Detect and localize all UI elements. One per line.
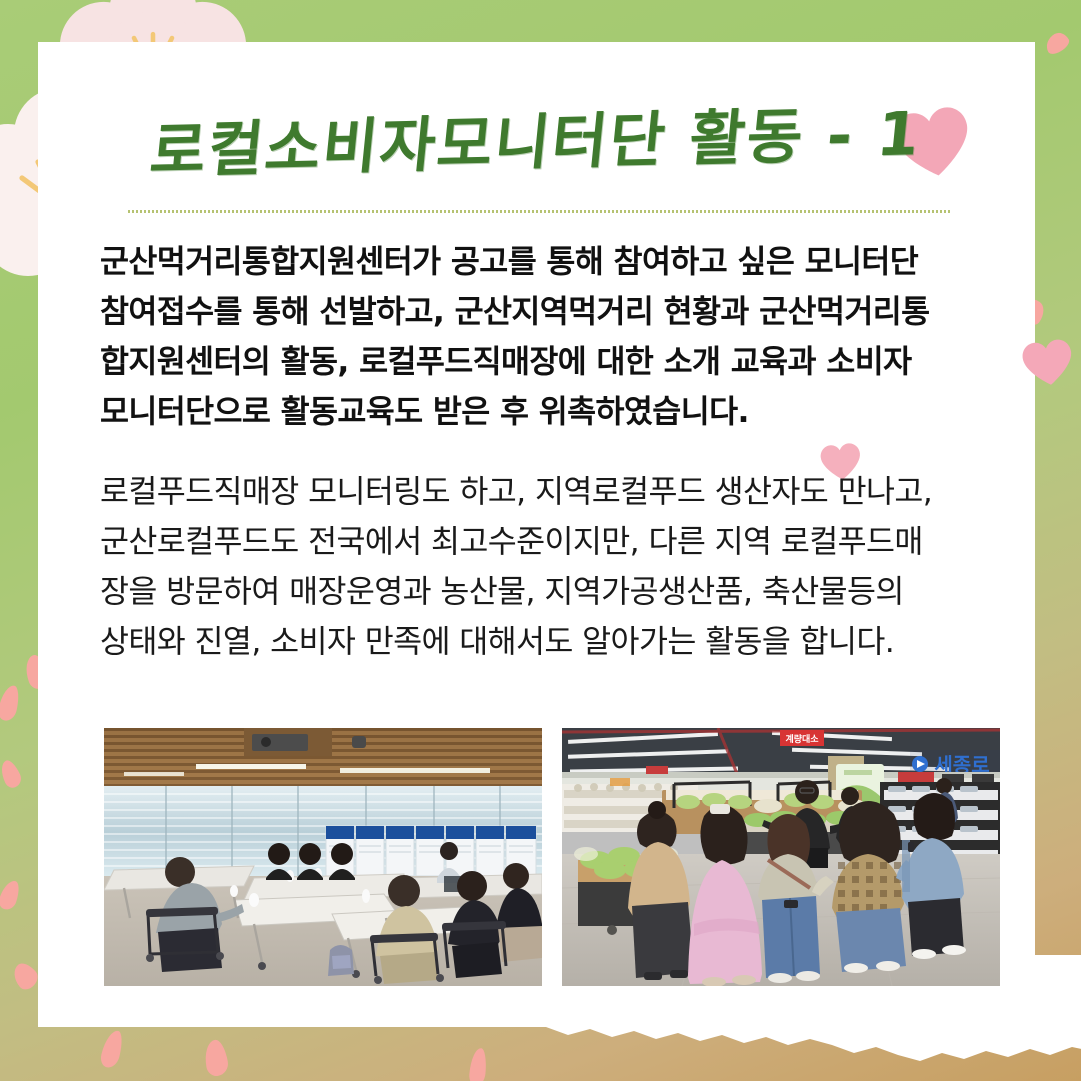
paragraph-2-line-3: 장을 방문하여 매장운영과 농산물, 지역가공생산품, 축산물등의: [100, 567, 988, 617]
dotted-divider: [128, 210, 950, 213]
petal-icon: [468, 1047, 487, 1081]
petal-icon: [1042, 29, 1072, 57]
svg-text:계량대소: 계량대소: [785, 733, 819, 745]
petal-icon: [202, 1038, 230, 1077]
poster-canvas: 로컬소비자모니터단 활동 - 1 군산먹거리통합지원센터가 공고를 통해 참여하…: [0, 0, 1081, 1081]
petal-icon: [0, 684, 22, 723]
paragraph-1-line-4: 모니터단으로 활동교육도 받은 후 위촉하였습니다.: [100, 387, 988, 437]
body-text-container: 군산먹거리통합지원센터가 공고를 통해 참여하고 싶은 모니터단 참여접수를 통…: [100, 237, 988, 697]
paragraph-1-line-2: 참여접수를 통해 선발하고, 군산지역먹거리 현황과 군산먹거리통: [100, 287, 988, 337]
petal-icon: [8, 959, 42, 993]
petal-icon: [0, 758, 24, 791]
paragraph-2: 로컬푸드직매장 모니터링도 하고, 지역로컬푸드 생산자도 만나고, 군산로컬푸…: [100, 467, 988, 667]
local-food-store-photo: 계량대소 세종로: [562, 728, 1000, 986]
petal-icon: [99, 1028, 126, 1069]
paragraph-1-line-3: 합지원센터의 활동, 로컬푸드직매장에 대한 소개 교육과 소비자: [100, 337, 988, 387]
meeting-room-photo: [104, 728, 542, 986]
paragraph-2-line-1: 로컬푸드직매장 모니터링도 하고, 지역로컬푸드 생산자도 만나고,: [100, 467, 988, 517]
petal-icon: [0, 878, 22, 912]
photo-gallery: 계량대소 세종로: [104, 728, 1000, 986]
paragraph-1-line-1: 군산먹거리통합지원센터가 공고를 통해 참여하고 싶은 모니터단: [100, 237, 988, 287]
page-title: 로컬소비자모니터단 활동 - 1: [147, 85, 926, 189]
title-container: 로컬소비자모니터단 활동 - 1: [38, 94, 1035, 181]
white-content-card: 로컬소비자모니터단 활동 - 1 군산먹거리통합지원센터가 공고를 통해 참여하…: [38, 42, 1035, 1027]
paragraph-2-line-2: 군산로컬푸드도 전국에서 최고수준이지만, 다른 지역 로컬푸드매: [100, 517, 988, 567]
paragraph-1: 군산먹거리통합지원센터가 공고를 통해 참여하고 싶은 모니터단 참여접수를 통…: [100, 237, 988, 437]
paragraph-2-line-4: 상태와 진열, 소비자 만족에 대해서도 알아가는 활동을 합니다.: [100, 617, 988, 667]
